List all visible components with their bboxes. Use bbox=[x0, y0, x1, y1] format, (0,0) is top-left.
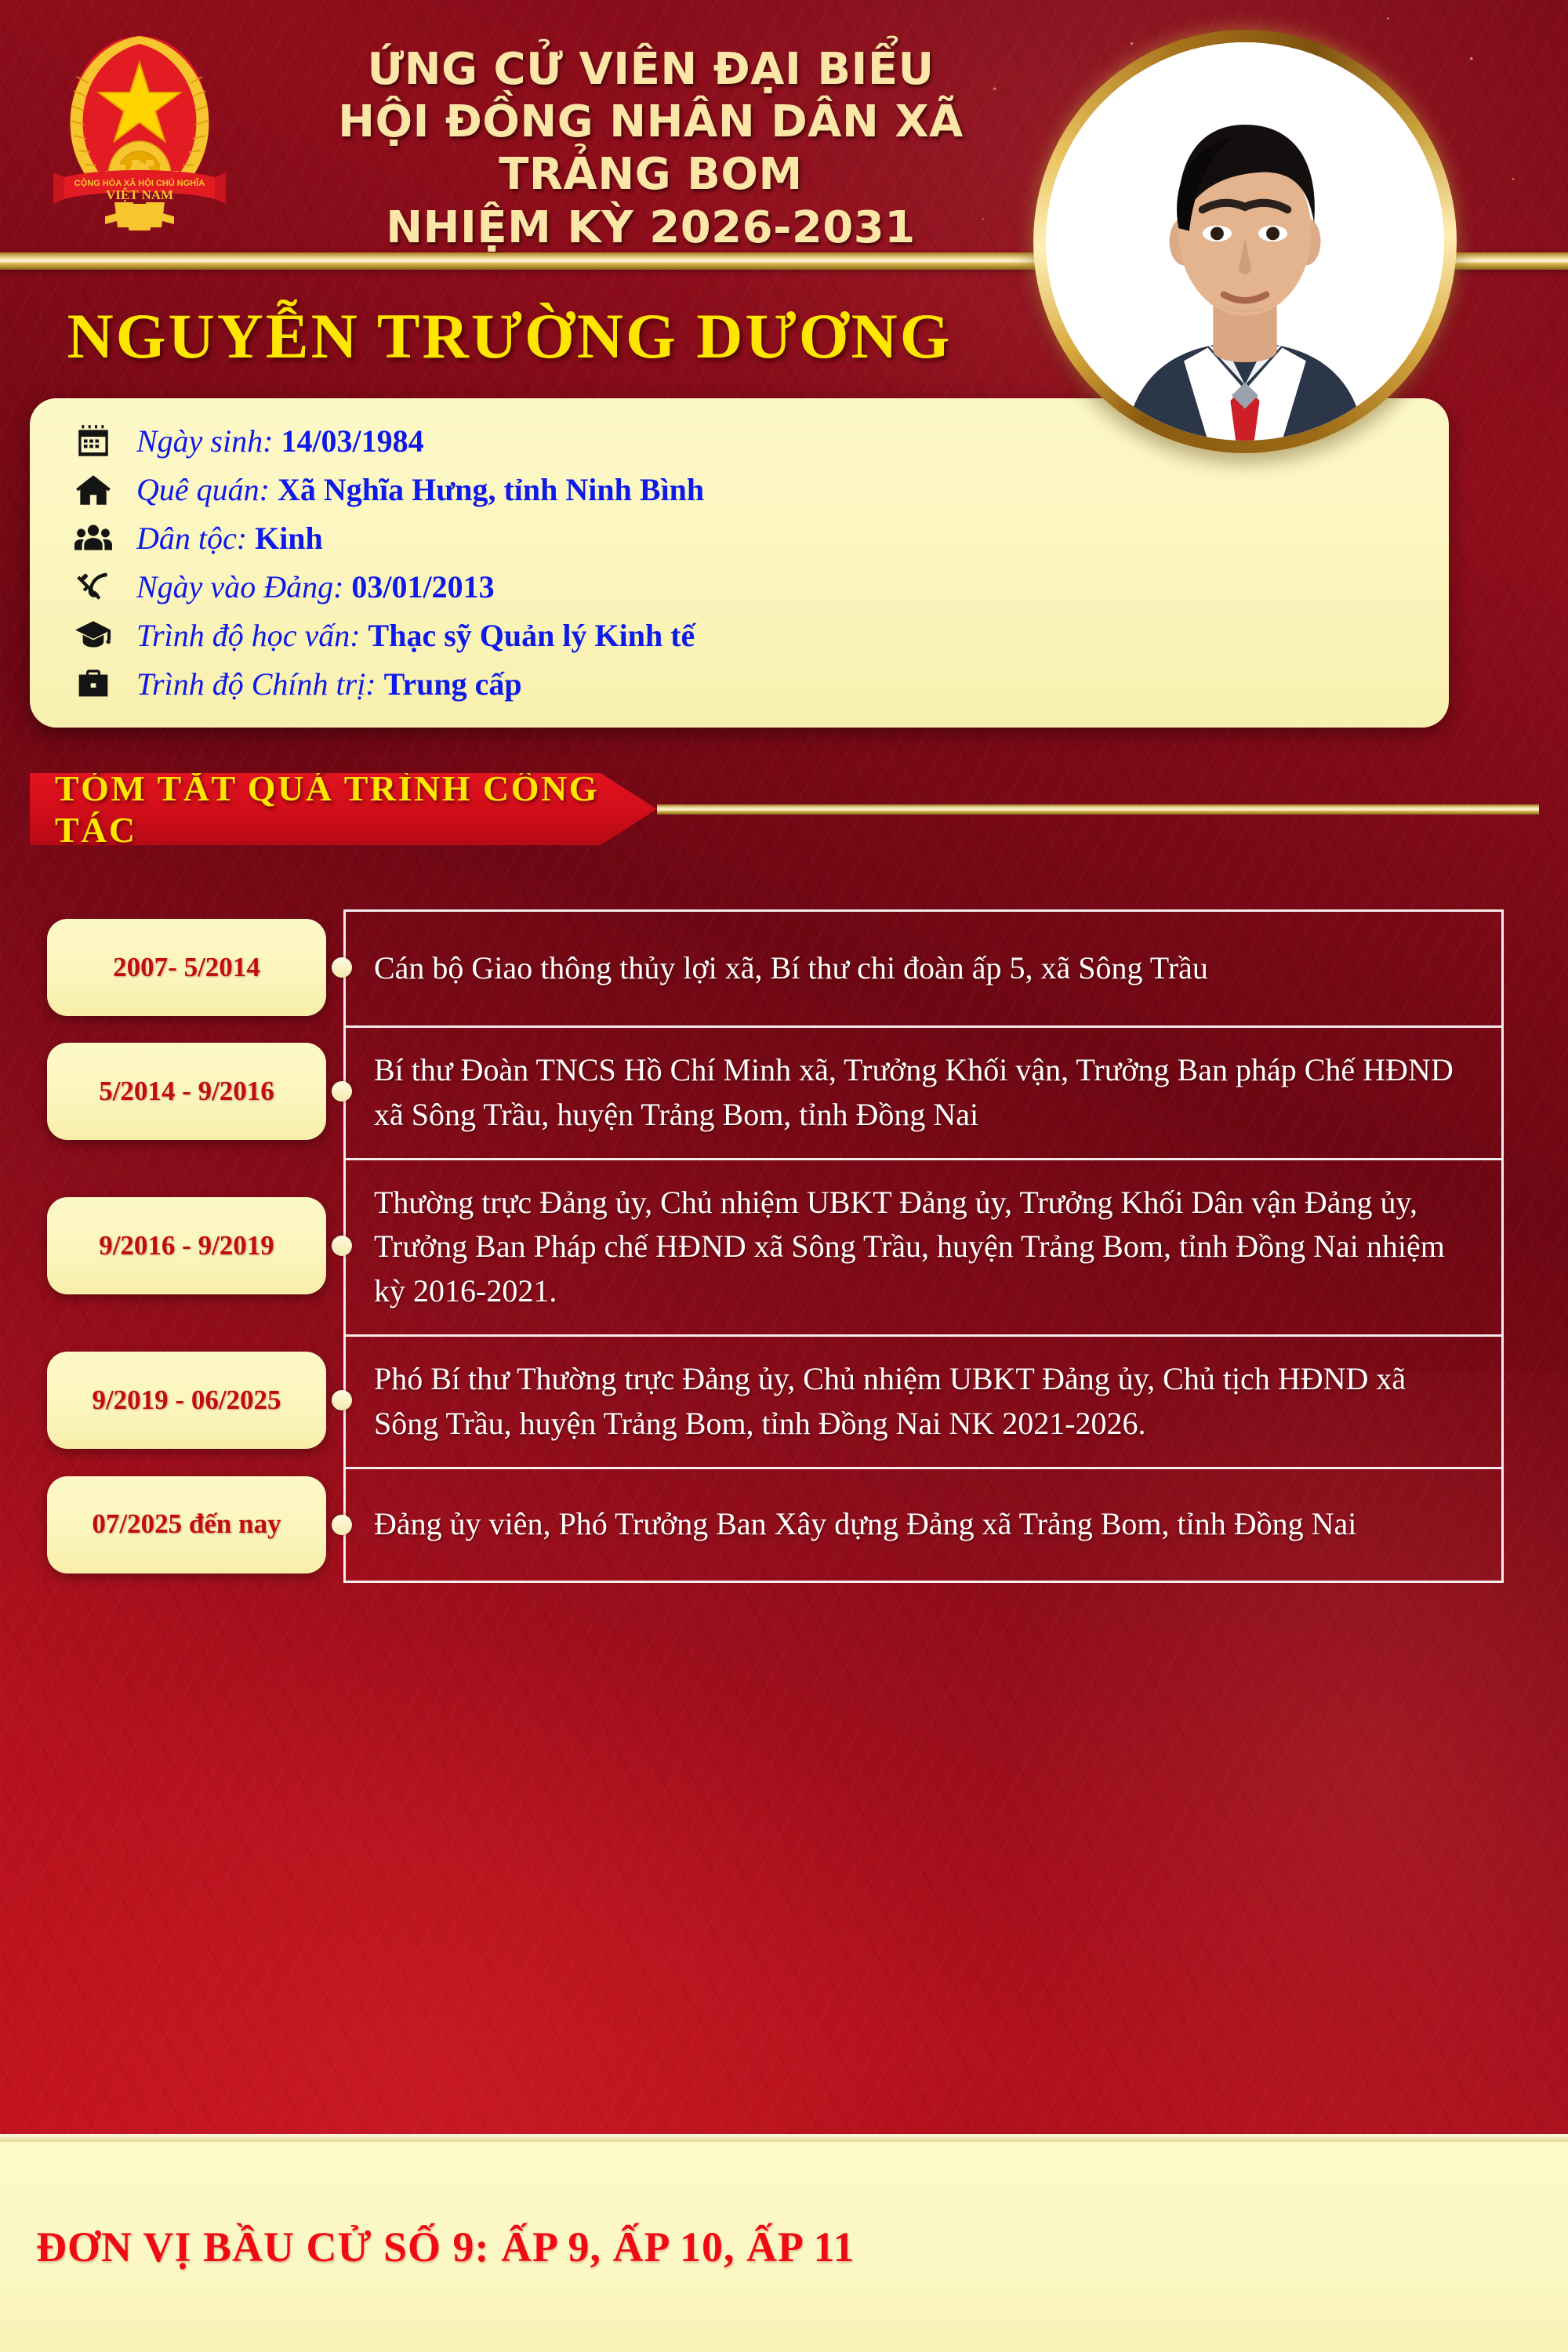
poster-root: CỘNG HÒA XÃ HỘI CHỦ NGHĨA VIỆT NAM ỨNG C… bbox=[0, 0, 1568, 2352]
info-label: Dân tộc: bbox=[136, 521, 247, 556]
timeline-date-label: 9/2016 - 9/2019 bbox=[99, 1230, 274, 1261]
candidate-name: NGUYỄN TRƯỜNG DƯƠNG bbox=[0, 299, 1019, 373]
hammer-sickle-icon bbox=[71, 566, 116, 608]
table-row: 5/2014 - 9/2016 Bí thư Đoàn TNCS Hồ Chí … bbox=[30, 1025, 1504, 1158]
info-row-party-date: Ngày vào Đảng: 03/01/2013 bbox=[71, 563, 1449, 612]
info-value: Kinh bbox=[255, 521, 323, 556]
electoral-unit-label: ĐƠN VỊ BẦU CỬ SỐ 9: ẤP 9, ẤP 10, ẤP 11 bbox=[0, 2223, 855, 2271]
people-group-icon bbox=[71, 517, 116, 560]
graduation-cap-icon bbox=[71, 615, 116, 657]
timeline-date-cell: 9/2019 - 06/2025 bbox=[30, 1334, 343, 1467]
info-row-politics: Trình độ Chính trị: Trung cấp bbox=[71, 660, 1449, 709]
info-value: 14/03/1984 bbox=[281, 423, 423, 459]
timeline-description: Thường trực Đảng ủy, Chủ nhiệm UBKT Đảng… bbox=[374, 1181, 1475, 1314]
footer-separator bbox=[0, 2134, 1568, 2142]
timeline-description-cell: Bí thư Đoàn TNCS Hồ Chí Minh xã, Trưởng … bbox=[343, 1025, 1504, 1158]
timeline-date-label: 07/2025 đến nay bbox=[92, 1508, 281, 1540]
portrait-gold-ring bbox=[1033, 30, 1457, 453]
info-row-education: Trình độ học vấn: Thạc sỹ Quản lý Kinh t… bbox=[71, 612, 1449, 660]
timeline-dot bbox=[332, 1236, 352, 1256]
timeline-date-badge: 2007- 5/2014 bbox=[47, 919, 326, 1016]
info-label: Ngày vào Đảng: bbox=[136, 569, 343, 604]
info-row-hometown: Quê quán: Xã Nghĩa Hưng, tỉnh Ninh Bình bbox=[71, 466, 1449, 514]
section-banner-label: TÓM TẮT QUÁ TRÌNH CÔNG TÁC bbox=[30, 768, 657, 851]
timeline-description: Đảng ủy viên, Phó Trưởng Ban Xây dựng Đả… bbox=[374, 1502, 1356, 1547]
info-label: Quê quán: bbox=[136, 472, 270, 507]
info-label: Ngày sinh: bbox=[136, 423, 273, 459]
timeline-date-badge: 07/2025 đến nay bbox=[47, 1476, 326, 1573]
timeline-dot bbox=[332, 1390, 352, 1410]
timeline-dot bbox=[332, 1081, 352, 1102]
header-title-line-3: NHIỆM KỲ 2026-2031 bbox=[259, 201, 1043, 254]
timeline-date-label: 5/2014 - 9/2016 bbox=[99, 1076, 274, 1107]
timeline-date-cell: 9/2016 - 9/2019 bbox=[30, 1158, 343, 1334]
calendar-icon bbox=[71, 420, 116, 463]
timeline-description: Phó Bí thư Thường trực Đảng ủy, Chủ nhiệ… bbox=[374, 1357, 1475, 1446]
info-value: 03/01/2013 bbox=[351, 569, 494, 604]
timeline-description: Bí thư Đoàn TNCS Hồ Chí Minh xã, Trưởng … bbox=[374, 1048, 1475, 1138]
info-value: Trung cấp bbox=[384, 666, 522, 702]
timeline-description: Cán bộ Giao thông thủy lợi xã, Bí thư ch… bbox=[374, 946, 1208, 991]
table-row: 9/2016 - 9/2019 Thường trực Đảng ủy, Chủ… bbox=[30, 1158, 1504, 1334]
header-title-line-2: HỘI ĐỒNG NHÂN DÂN XÃ TRẢNG BOM bbox=[259, 96, 1043, 201]
section-banner: TÓM TẮT QUÁ TRÌNH CÔNG TÁC bbox=[30, 773, 657, 845]
timeline-description-cell: Thường trực Đảng ủy, Chủ nhiệm UBKT Đảng… bbox=[343, 1158, 1504, 1334]
timeline-date-badge: 9/2019 - 06/2025 bbox=[47, 1352, 326, 1449]
timeline-date-label: 2007- 5/2014 bbox=[113, 952, 260, 983]
banner-gold-rule bbox=[657, 804, 1539, 815]
info-value: Xã Nghĩa Hưng, tỉnh Ninh Bình bbox=[278, 472, 704, 507]
timeline-dot bbox=[332, 1515, 352, 1535]
timeline-date-cell: 07/2025 đến nay bbox=[30, 1467, 343, 1583]
timeline-date-cell: 2007- 5/2014 bbox=[30, 909, 343, 1025]
table-row: 2007- 5/2014 Cán bộ Giao thông thủy lợi … bbox=[30, 909, 1504, 1025]
info-label: Trình độ Chính trị: bbox=[136, 666, 376, 702]
candidate-portrait bbox=[1033, 30, 1457, 453]
portrait-photo bbox=[1046, 42, 1444, 441]
career-timeline: 2007- 5/2014 Cán bộ Giao thông thủy lợi … bbox=[30, 909, 1504, 1583]
timeline-date-badge: 9/2016 - 9/2019 bbox=[47, 1197, 326, 1294]
home-icon bbox=[71, 469, 116, 511]
timeline-date-cell: 5/2014 - 9/2016 bbox=[30, 1025, 343, 1158]
header-title-line-1: ỨNG CỬ VIÊN ĐẠI BIỂU bbox=[259, 43, 1043, 96]
info-row-ethnicity: Dân tộc: Kinh bbox=[71, 514, 1449, 563]
info-value: Thạc sỹ Quản lý Kinh tế bbox=[368, 618, 695, 653]
emblem-ribbon-bottom-text: VIỆT NAM bbox=[106, 187, 173, 202]
timeline-description-cell: Phó Bí thư Thường trực Đảng ủy, Chủ nhiệ… bbox=[343, 1334, 1504, 1467]
timeline-description-cell: Cán bộ Giao thông thủy lợi xã, Bí thư ch… bbox=[343, 909, 1504, 1025]
table-row: 9/2019 - 06/2025 Phó Bí thư Thường trực … bbox=[30, 1334, 1504, 1467]
vietnam-national-emblem-icon: CỘNG HÒA XÃ HỘI CHỦ NGHĨA VIỆT NAM bbox=[30, 22, 249, 241]
poster-footer: ĐƠN VỊ BẦU CỬ SỐ 9: ẤP 9, ẤP 10, ẤP 11 bbox=[0, 2142, 1568, 2352]
section-banner-wrap: TÓM TẮT QUÁ TRÌNH CÔNG TÁC bbox=[0, 762, 1568, 855]
briefcase-icon bbox=[71, 663, 116, 706]
info-label: Trình độ học vấn: bbox=[136, 618, 361, 653]
table-row: 07/2025 đến nay Đảng ủy viên, Phó Trưởng… bbox=[30, 1467, 1504, 1583]
timeline-dot bbox=[332, 957, 352, 978]
timeline-date-badge: 5/2014 - 9/2016 bbox=[47, 1043, 326, 1140]
timeline-description-cell: Đảng ủy viên, Phó Trưởng Ban Xây dựng Đả… bbox=[343, 1467, 1504, 1583]
timeline-date-label: 9/2019 - 06/2025 bbox=[92, 1385, 281, 1416]
header-title-block: ỨNG CỬ VIÊN ĐẠI BIỂU HỘI ĐỒNG NHÂN DÂN X… bbox=[259, 43, 1043, 254]
